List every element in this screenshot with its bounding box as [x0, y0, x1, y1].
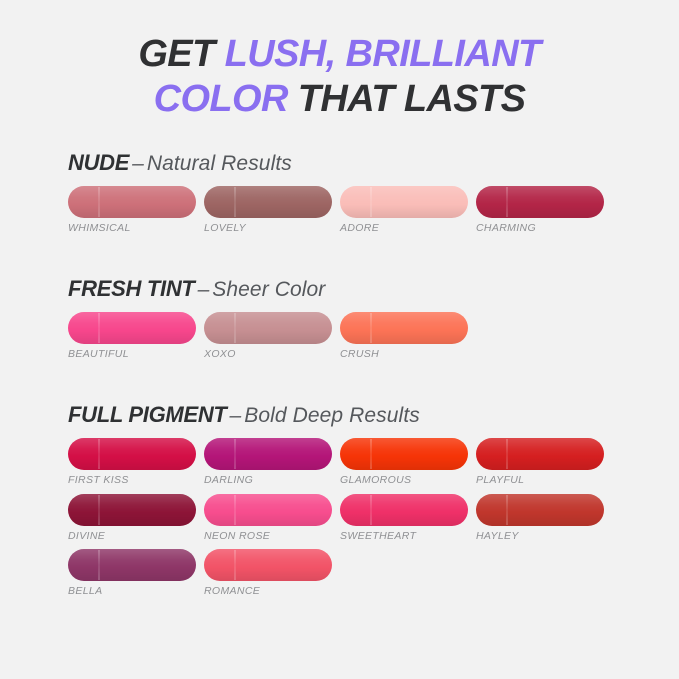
swatch-label: BELLA	[68, 586, 196, 598]
swatch-cell[interactable]: GLAMOROUS	[340, 438, 468, 487]
section-name: FRESH TINT	[68, 276, 195, 301]
color-swatch[interactable]	[340, 494, 468, 526]
section-heading: NUDE–Natural Results	[68, 152, 628, 174]
section-description: Sheer Color	[212, 278, 325, 301]
swatch-cell[interactable]: NEON ROSE	[204, 494, 332, 543]
swatch-cell[interactable]: XOXO	[204, 312, 332, 361]
lipstick-shade-chart: GET LUSH, BRILLIANT COLOR THAT LASTS NUD…	[0, 0, 679, 679]
swatch-label: XOXO	[204, 349, 332, 361]
page-title: GET LUSH, BRILLIANT COLOR THAT LASTS	[0, 32, 679, 122]
section-dash: –	[129, 152, 147, 175]
section-nude: NUDE–Natural Results WHIMSICAL LOVELY AD…	[68, 152, 628, 242]
swatch-cell[interactable]: FIRST KISS	[68, 438, 196, 487]
color-swatch[interactable]	[204, 494, 332, 526]
swatch-cell[interactable]: LOVELY	[204, 186, 332, 235]
color-swatch[interactable]	[340, 186, 468, 218]
swatch-label: CHARMING	[476, 223, 604, 235]
swatch-row: DIVINE NEON ROSE SWEETHEART HAYLEY	[68, 494, 628, 543]
swatch-label: BEAUTIFUL	[68, 349, 196, 361]
swatch-cell[interactable]: ADORE	[340, 186, 468, 235]
section-heading: FULL PIGMENT–Bold Deep Results	[68, 404, 628, 426]
swatch-label: PLAYFUL	[476, 475, 604, 487]
section-dash: –	[195, 278, 213, 301]
section-description: Bold Deep Results	[244, 404, 420, 427]
swatch-cell[interactable]: WHIMSICAL	[68, 186, 196, 235]
swatch-row: WHIMSICAL LOVELY ADORE CHARMING	[68, 186, 628, 235]
swatch-label: SWEETHEART	[340, 531, 468, 543]
section-description: Natural Results	[147, 152, 292, 175]
swatch-label: DIVINE	[68, 531, 196, 543]
title-that-lasts: THAT LASTS	[288, 78, 526, 120]
swatch-label: GLAMOROUS	[340, 475, 468, 487]
swatch-row: FIRST KISS DARLING GLAMOROUS PLAYFUL	[68, 438, 628, 487]
color-swatch[interactable]	[204, 549, 332, 581]
color-swatch[interactable]	[204, 312, 332, 344]
swatch-cell[interactable]: DARLING	[204, 438, 332, 487]
section-fresh-tint: FRESH TINT–Sheer Color BEAUTIFUL XOXO CR…	[68, 278, 628, 368]
swatch-row: BEAUTIFUL XOXO CRUSH	[68, 312, 628, 361]
color-swatch[interactable]	[68, 494, 196, 526]
color-swatch[interactable]	[476, 438, 604, 470]
swatch-cell[interactable]: DIVINE	[68, 494, 196, 543]
color-swatch[interactable]	[340, 312, 468, 344]
swatch-cell[interactable]: BEAUTIFUL	[68, 312, 196, 361]
swatch-label: CRUSH	[340, 349, 468, 361]
swatch-cell[interactable]: ROMANCE	[204, 549, 332, 598]
color-swatch[interactable]	[340, 438, 468, 470]
title-color: COLOR	[154, 78, 288, 120]
color-swatch[interactable]	[204, 438, 332, 470]
swatch-label: ROMANCE	[204, 586, 332, 598]
swatch-label: NEON ROSE	[204, 531, 332, 543]
swatch-cell[interactable]: PLAYFUL	[476, 438, 604, 487]
swatch-cell[interactable]: SWEETHEART	[340, 494, 468, 543]
color-swatch[interactable]	[204, 186, 332, 218]
section-name: FULL PIGMENT	[68, 402, 227, 427]
swatch-cell[interactable]: CRUSH	[340, 312, 468, 361]
color-swatch[interactable]	[68, 549, 196, 581]
color-swatch[interactable]	[476, 186, 604, 218]
title-get: GET	[138, 33, 224, 75]
color-swatch[interactable]	[68, 186, 196, 218]
section-name: NUDE	[68, 150, 129, 175]
swatch-label: DARLING	[204, 475, 332, 487]
swatch-row: BELLA ROMANCE	[68, 549, 628, 598]
title-line-2: COLOR THAT LASTS	[0, 77, 679, 122]
swatch-label: LOVELY	[204, 223, 332, 235]
section-heading: FRESH TINT–Sheer Color	[68, 278, 628, 300]
swatch-label: HAYLEY	[476, 531, 604, 543]
swatch-cell[interactable]: BELLA	[68, 549, 196, 598]
title-line-1: GET LUSH, BRILLIANT	[0, 32, 679, 77]
section-full-pigment: FULL PIGMENT–Bold Deep Results FIRST KIS…	[68, 404, 628, 605]
color-swatch[interactable]	[68, 312, 196, 344]
swatch-label: ADORE	[340, 223, 468, 235]
swatch-label: FIRST KISS	[68, 475, 196, 487]
swatch-label: WHIMSICAL	[68, 223, 196, 235]
title-lush-brilliant: LUSH, BRILLIANT	[225, 33, 541, 75]
color-swatch[interactable]	[476, 494, 604, 526]
swatch-cell[interactable]: HAYLEY	[476, 494, 604, 543]
color-swatch[interactable]	[68, 438, 196, 470]
section-dash: –	[227, 404, 245, 427]
swatch-cell[interactable]: CHARMING	[476, 186, 604, 235]
